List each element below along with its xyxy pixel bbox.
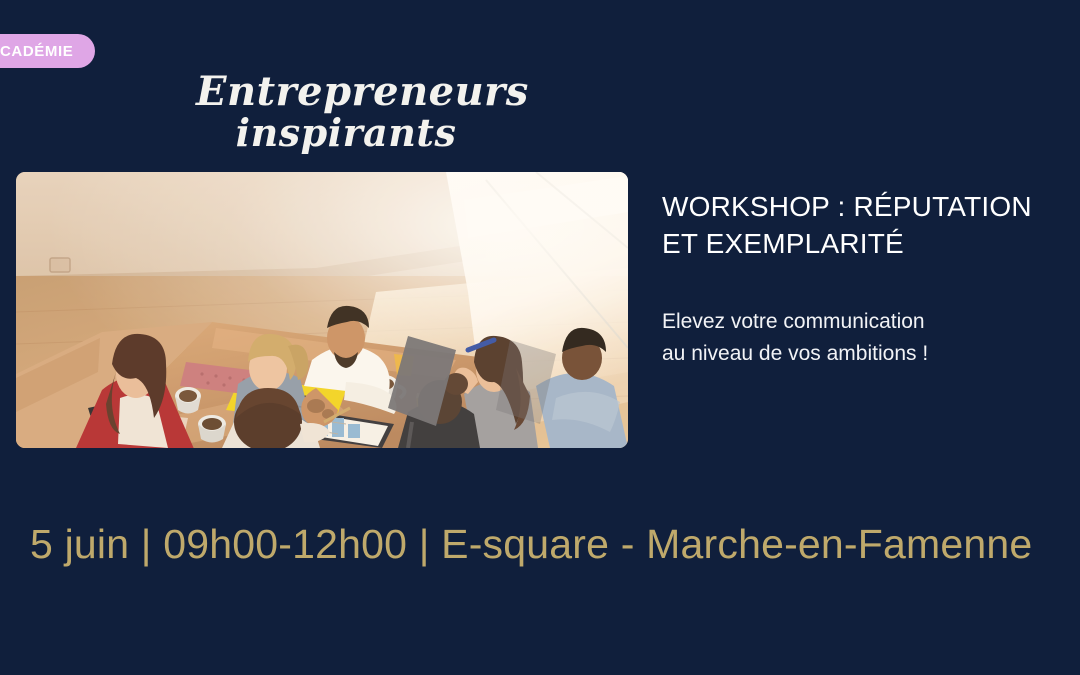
event-details: 5 juin | 09h00-12h00 | E-square - Marche…	[30, 521, 1032, 568]
brand-logo-line-1: Entrepreneurs	[196, 68, 529, 115]
event-announcement-slide: CADÉMIE Entrepreneurs inspirants	[0, 0, 1080, 675]
page-title: WORKSHOP : RÉPUTATION ET EXEMPLARITÉ	[662, 188, 1074, 262]
page-subtitle-line-1: Elevez votre communication	[662, 306, 1062, 338]
meeting-photo	[16, 172, 628, 448]
brand-logo-line-2: inspirants	[196, 114, 496, 152]
page-subtitle: Elevez votre communication au niveau de …	[662, 306, 1062, 370]
category-badge-label: CADÉMIE	[0, 43, 73, 60]
page-subtitle-line-2: au niveau de vos ambitions !	[662, 338, 1062, 370]
brand-logo: Entrepreneurs inspirants	[196, 72, 496, 152]
meeting-photo-illustration	[16, 172, 628, 448]
page-title-line-1: WORKSHOP : RÉPUTATION	[662, 188, 1074, 225]
page-title-line-2: ET EXEMPLARITÉ	[662, 225, 1074, 262]
category-badge: CADÉMIE	[0, 34, 95, 68]
